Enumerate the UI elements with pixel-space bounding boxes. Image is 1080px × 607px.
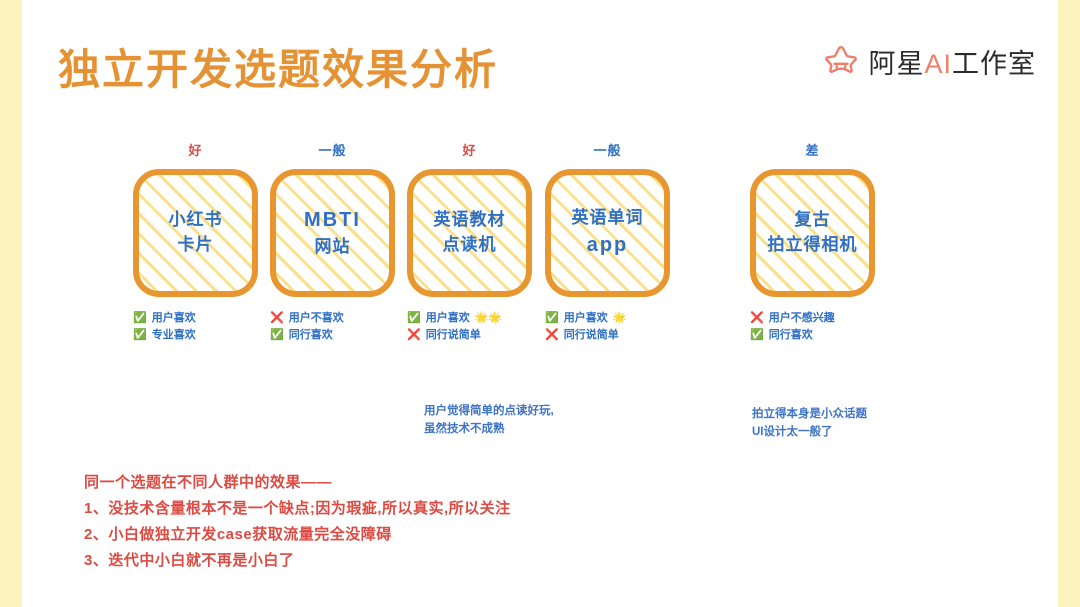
card-0-rating: 好	[133, 140, 258, 162]
card-1-bullet-0-text: 用户不喜欢	[289, 310, 344, 327]
note-0-line2: 虽然技术不成熟	[424, 423, 505, 435]
note-1-line1: 拍立得本身是小众话题	[752, 408, 867, 420]
card-4-rating: 差	[750, 140, 875, 162]
card-1-line-0: MBTI	[304, 206, 361, 235]
card-3-line-1: app	[587, 231, 629, 260]
card-2-rating: 好	[407, 140, 532, 162]
card-0-bullets: ✅用户喜欢✅专业喜欢	[133, 310, 293, 344]
card-2-bullet-0-stars: 🌟🌟	[475, 310, 502, 327]
card-0-line-1: 卡片	[178, 233, 214, 258]
cross-icon: ❌	[270, 310, 284, 327]
cross-icon: ❌	[545, 327, 559, 344]
card-4-bullet-1: ✅同行喜欢	[750, 327, 910, 344]
card-0[interactable]: 好小红书卡片✅用户喜欢✅专业喜欢	[133, 140, 258, 297]
check-icon: ✅	[133, 327, 147, 344]
check-icon: ✅	[407, 310, 421, 327]
note-1: 拍立得本身是小众话题 UI设计太一般了	[752, 405, 867, 441]
card-0-box[interactable]: 小红书卡片	[133, 169, 258, 297]
card-1-bullet-0: ❌用户不喜欢	[270, 310, 430, 327]
card-2-bullet-0: ✅用户喜欢🌟🌟	[407, 310, 567, 327]
check-icon: ✅	[750, 327, 764, 344]
card-0-bullet-1: ✅专业喜欢	[133, 327, 293, 344]
card-0-bullet-0-text: 用户喜欢	[152, 310, 196, 327]
page-title: 独立开发选题效果分析	[58, 36, 498, 97]
card-1-rating: 一般	[270, 140, 395, 162]
cross-icon: ❌	[407, 327, 421, 344]
cards-row: 好小红书卡片✅用户喜欢✅专业喜欢一般MBTI网站❌用户不喜欢✅同行喜欢好英语教材…	[0, 140, 1080, 310]
card-3-bullet-0-stars: 🌟	[613, 310, 627, 327]
card-0-line-0: 小红书	[169, 208, 223, 233]
card-3[interactable]: 一般英语单词app✅用户喜欢🌟❌同行说简单	[545, 140, 670, 297]
card-1-bullet-1-text: 同行喜欢	[289, 327, 333, 344]
card-3-bullet-1: ❌同行说简单	[545, 327, 705, 344]
conclusion-line-1: 1、没技术含量根本不是一个缺点;因为瑕疵,所以真实,所以关注	[84, 496, 511, 522]
card-4-bullet-0: ❌用户不感兴趣	[750, 310, 910, 327]
card-1-bullet-1: ✅同行喜欢	[270, 327, 430, 344]
brand-name-suffix: 工作室	[952, 49, 1036, 79]
card-4-box[interactable]: 复古拍立得相机	[750, 169, 875, 297]
card-3-line-0: 英语单词	[572, 206, 644, 231]
card-4-line-1: 拍立得相机	[768, 233, 858, 258]
note-0-line1: 用户觉得简单的点读好玩,	[424, 405, 554, 417]
brand-name: 阿星AI工作室	[868, 42, 1036, 81]
card-0-bullet-1-text: 专业喜欢	[152, 327, 196, 344]
star-outline-icon	[824, 43, 858, 80]
conclusion-heading: 同一个选题在不同人群中的效果——	[84, 470, 511, 496]
conclusion-line-2: 2、小白做独立开发case获取流量完全没障碍	[84, 522, 511, 548]
check-icon: ✅	[133, 310, 147, 327]
card-1-bullets: ❌用户不喜欢✅同行喜欢	[270, 310, 430, 344]
card-1-line-1: 网站	[315, 235, 351, 260]
note-1-line2: UI设计太一般了	[752, 426, 833, 438]
card-2-bullet-1-text: 同行说简单	[426, 327, 481, 344]
card-1-box[interactable]: MBTI网站	[270, 169, 395, 297]
slide-canvas: 独立开发选题效果分析 阿星AI工作室 好小红书卡片✅用户喜欢✅专业喜欢一般MBT…	[0, 0, 1080, 607]
card-0-bullet-0: ✅用户喜欢	[133, 310, 293, 327]
brand-logo: 阿星AI工作室	[824, 42, 1036, 81]
card-2-line-1: 点读机	[443, 233, 497, 258]
cross-icon: ❌	[750, 310, 764, 327]
card-2-line-0: 英语教材	[434, 208, 506, 233]
note-0: 用户觉得简单的点读好玩, 虽然技术不成熟	[424, 402, 554, 438]
conclusion-block: 同一个选题在不同人群中的效果—— 1、没技术含量根本不是一个缺点;因为瑕疵,所以…	[84, 470, 511, 574]
card-3-box[interactable]: 英语单词app	[545, 169, 670, 297]
card-2-bullet-0-text: 用户喜欢	[426, 310, 470, 327]
card-3-bullets: ✅用户喜欢🌟❌同行说简单	[545, 310, 705, 344]
card-4-line-0: 复古	[795, 208, 831, 233]
conclusion-line-3: 3、迭代中小白就不再是小白了	[84, 548, 511, 574]
card-2[interactable]: 好英语教材点读机✅用户喜欢🌟🌟❌同行说简单	[407, 140, 532, 297]
card-2-bullet-1: ❌同行说简单	[407, 327, 567, 344]
card-4-bullet-1-text: 同行喜欢	[769, 327, 813, 344]
card-2-box[interactable]: 英语教材点读机	[407, 169, 532, 297]
check-icon: ✅	[545, 310, 559, 327]
card-4[interactable]: 差复古拍立得相机❌用户不感兴趣✅同行喜欢	[750, 140, 875, 297]
card-4-bullet-0-text: 用户不感兴趣	[769, 310, 835, 327]
card-1[interactable]: 一般MBTI网站❌用户不喜欢✅同行喜欢	[270, 140, 395, 297]
card-3-bullet-0: ✅用户喜欢🌟	[545, 310, 705, 327]
check-icon: ✅	[270, 327, 284, 344]
brand-name-prefix: 阿星	[868, 49, 924, 79]
card-2-bullets: ✅用户喜欢🌟🌟❌同行说简单	[407, 310, 567, 344]
card-3-rating: 一般	[545, 140, 670, 162]
card-3-bullet-1-text: 同行说简单	[564, 327, 619, 344]
card-4-bullets: ❌用户不感兴趣✅同行喜欢	[750, 310, 910, 344]
brand-name-ai: AI	[924, 49, 952, 79]
card-3-bullet-0-text: 用户喜欢	[564, 310, 608, 327]
